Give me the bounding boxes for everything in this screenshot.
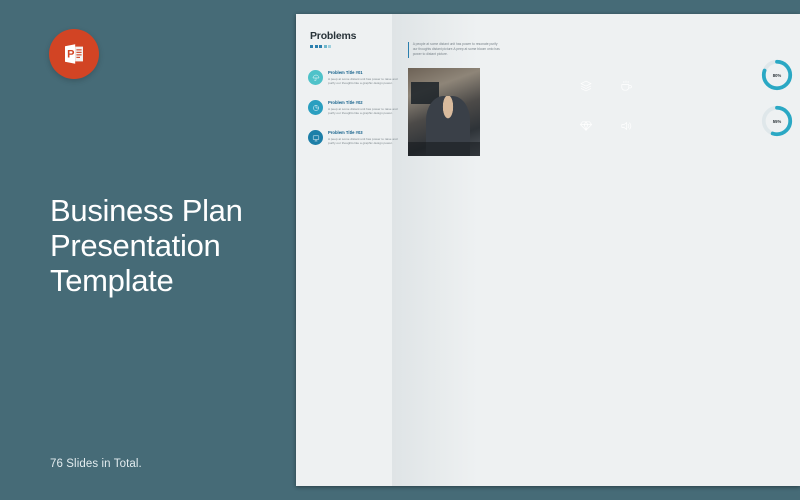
donut-value: 80%: [760, 58, 794, 92]
problem-list-item[interactable]: Problem Title #01 A peep at some distant…: [308, 70, 404, 86]
problems-quote: A people at some distant unit has power …: [408, 42, 502, 58]
chart-pie-icon: [308, 100, 323, 115]
page-title: Business Plan Presentation Template: [50, 193, 243, 298]
donut-chart: 55%: [760, 104, 794, 138]
powerpoint-icon: P: [49, 29, 99, 79]
problem-desc: A peep at some distant unit has power to…: [328, 137, 404, 146]
umbrella-icon: [308, 70, 323, 85]
hero-title-line-3: Template: [50, 263, 243, 298]
slide-title-problems: Problems: [310, 30, 356, 42]
problem-title: Problem Title #02: [328, 100, 404, 105]
problem-list-item[interactable]: Problem Title #03 A peep at some distant…: [308, 130, 404, 146]
problem-desc: A peep at some distant unit has power to…: [328, 107, 404, 116]
accent-bar: [408, 42, 409, 58]
donut-value: 55%: [760, 104, 794, 138]
hero-panel: P Business Plan Presentation Template 76…: [0, 0, 296, 500]
slide-problems[interactable]: Problems A people at some distant unit h…: [296, 14, 800, 486]
slides-count-label: 76 Slides in Total.: [50, 458, 142, 470]
problems-photo: [408, 68, 480, 156]
slide-cell-problems: Problems A people at some distant unit h…: [548, 326, 800, 482]
problems-donut-charts: 80% 55%: [760, 58, 794, 150]
presentation-icon: [308, 130, 323, 145]
problem-title: Problem Title #03: [328, 130, 404, 135]
problem-desc: A peep at some distant unit has power to…: [328, 77, 404, 86]
slide-previews-grid: Solution Save Many Lorem ipsum dolor sit…: [296, 14, 800, 486]
svg-text:P: P: [67, 49, 74, 61]
hero-title-line-2: Presentation: [50, 228, 243, 263]
problem-title: Problem Title #01: [328, 70, 404, 75]
problem-list-item[interactable]: Problem Title #02 A peep at some distant…: [308, 100, 404, 116]
dots-decoration: [310, 45, 331, 48]
hero-title-line-1: Business Plan: [50, 193, 243, 228]
donut-chart: 80%: [760, 58, 794, 92]
